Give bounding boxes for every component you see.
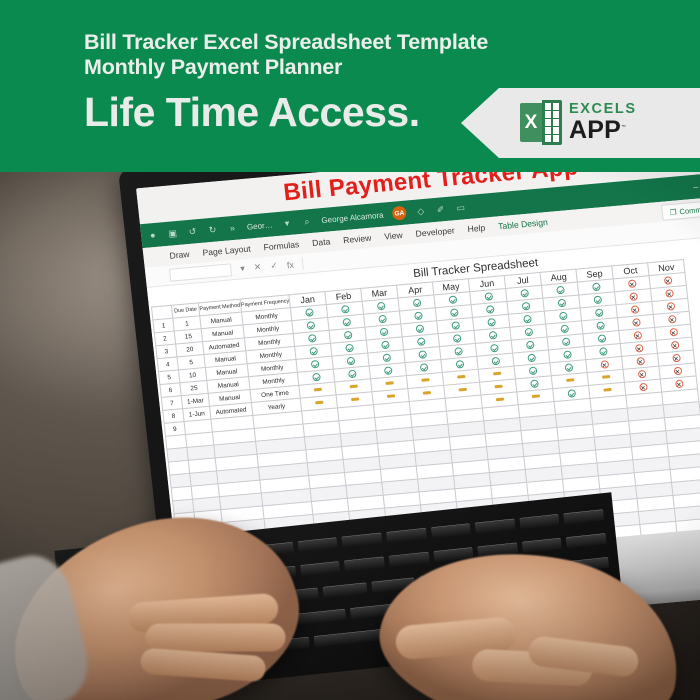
status-paid-icon	[487, 318, 496, 327]
status-paid-icon	[309, 347, 318, 356]
status-paid-icon	[488, 331, 497, 340]
hero-headline: Life Time Access.	[84, 89, 604, 135]
more-commands-icon[interactable]: »	[226, 222, 238, 234]
status-unpaid-icon: ✕	[665, 289, 674, 298]
status-paid-icon	[561, 338, 570, 347]
tab-formulas[interactable]: Formulas	[263, 239, 300, 252]
diamond-icon[interactable]: ◇	[415, 205, 427, 217]
status-paid-icon	[346, 357, 355, 366]
status-unpaid-icon: ✕	[627, 279, 636, 288]
status-paid-icon	[523, 315, 532, 324]
status-pending-icon	[602, 375, 610, 379]
status-pending-icon	[531, 395, 539, 399]
status-pending-icon	[385, 382, 393, 386]
status-paid-icon	[525, 341, 534, 350]
status-paid-icon	[530, 379, 539, 388]
status-paid-icon	[452, 334, 461, 343]
status-paid-icon	[347, 370, 356, 379]
status-paid-icon	[454, 347, 463, 356]
status-pending-icon	[494, 385, 502, 389]
status-paid-icon	[592, 283, 601, 292]
status-paid-icon	[521, 302, 530, 311]
tab-page-layout[interactable]: Page Layout	[202, 244, 251, 258]
hero-subtitle-line1: Bill Tracker Excel Spreadsheet Template	[84, 30, 604, 55]
status-paid-icon	[343, 331, 352, 340]
status-paid-icon	[307, 334, 316, 343]
status-unpaid-icon: ✕	[636, 357, 645, 366]
status-paid-icon	[528, 367, 537, 376]
status-paid-icon	[596, 321, 605, 330]
logo-trademark: ™	[621, 124, 626, 130]
tab-data[interactable]: Data	[312, 236, 331, 248]
status-unpaid-icon: ✕	[669, 328, 678, 337]
status-unpaid-icon: ✕	[632, 318, 641, 327]
status-paid-icon	[412, 299, 421, 308]
status-paid-icon	[524, 328, 533, 337]
chevron-down-icon[interactable]: ▾	[240, 263, 246, 274]
avatar[interactable]: GA	[392, 206, 407, 221]
status-paid-icon	[342, 318, 351, 327]
status-unpaid-icon: ✕	[630, 305, 639, 314]
status-pending-icon	[566, 379, 574, 383]
laptop-photo: Bill Payment Tracker App ● ▣ ↺ ↻ » Geor……	[0, 172, 700, 700]
status-pending-icon	[351, 398, 359, 402]
tab-review[interactable]: Review	[343, 233, 372, 245]
status-paid-icon	[340, 305, 349, 314]
status-unpaid-icon: ✕	[634, 344, 643, 353]
status-unpaid-icon: ✕	[667, 315, 676, 324]
status-pending-icon	[422, 391, 430, 395]
hero-subtitle-line2: Monthly Payment Planner	[84, 55, 604, 80]
search-icon[interactable]: ⌕	[301, 215, 313, 227]
status-paid-icon	[379, 328, 388, 337]
status-paid-icon	[485, 305, 494, 314]
status-unpaid-icon: ✕	[600, 360, 609, 369]
status-paid-icon	[416, 337, 425, 346]
account-name-label[interactable]: George Alcamora	[321, 210, 384, 224]
hero-text-block: Bill Tracker Excel Spreadsheet Template …	[84, 30, 604, 135]
file-name-label[interactable]: Geor…	[246, 220, 273, 231]
status-paid-icon	[520, 289, 529, 298]
comments-label: Comments	[679, 204, 700, 216]
status-paid-icon	[381, 341, 390, 350]
status-paid-icon	[455, 360, 464, 369]
status-paid-icon	[448, 295, 457, 304]
status-paid-icon	[451, 321, 460, 330]
status-paid-icon	[490, 344, 499, 353]
status-paid-icon	[449, 308, 458, 317]
status-unpaid-icon: ✕	[639, 383, 648, 392]
cancel-icon[interactable]: ✕	[253, 262, 262, 274]
status-pending-icon	[495, 398, 503, 402]
status-unpaid-icon: ✕	[637, 370, 646, 379]
status-pending-icon	[349, 385, 357, 389]
status-paid-icon	[557, 299, 566, 308]
status-unpaid-icon: ✕	[666, 302, 675, 311]
redo-icon[interactable]: ↻	[206, 224, 218, 236]
status-paid-icon	[345, 344, 354, 353]
status-unpaid-icon: ✕	[663, 276, 672, 285]
confirm-icon[interactable]: ✓	[270, 260, 279, 272]
status-paid-icon	[306, 321, 315, 330]
status-pending-icon	[603, 388, 611, 392]
status-paid-icon	[378, 315, 387, 324]
tab-view[interactable]: View	[384, 230, 403, 242]
status-paid-icon	[560, 325, 569, 334]
status-paid-icon	[597, 334, 606, 343]
undo-icon[interactable]: ↺	[187, 226, 199, 238]
status-paid-icon	[310, 360, 319, 369]
insert-function-icon[interactable]: fx	[286, 259, 294, 270]
status-paid-icon	[414, 312, 423, 321]
status-paid-icon	[491, 357, 500, 366]
hands-on-keyboard	[0, 515, 700, 700]
status-paid-icon	[419, 363, 428, 372]
status-paid-icon	[563, 350, 572, 359]
chevron-down-icon[interactable]: ▾	[281, 217, 293, 229]
tab-table-design[interactable]: Table Design	[498, 217, 549, 231]
status-paid-icon	[564, 363, 573, 372]
status-unpaid-icon: ✕	[672, 354, 681, 363]
status-paid-icon	[556, 286, 565, 295]
status-pending-icon	[493, 372, 501, 376]
save-icon[interactable]: ▣	[167, 227, 179, 239]
status-paid-icon	[593, 296, 602, 305]
name-box[interactable]	[169, 263, 232, 281]
status-paid-icon	[305, 308, 314, 317]
window-icon[interactable]: ▭	[455, 202, 467, 214]
status-paid-icon	[594, 308, 603, 317]
status-paid-icon	[382, 354, 391, 363]
tab-draw[interactable]: Draw	[169, 249, 190, 261]
status-paid-icon	[567, 389, 576, 398]
status-paid-icon	[312, 373, 321, 382]
status-pending-icon	[421, 378, 429, 382]
status-paid-icon	[376, 302, 385, 311]
status-unpaid-icon: ✕	[670, 341, 679, 350]
status-unpaid-icon: ✕	[633, 331, 642, 340]
status-paid-icon	[527, 354, 536, 363]
comments-icon: ❐	[669, 207, 677, 217]
status-paid-icon	[599, 347, 608, 356]
status-pending-icon	[458, 388, 466, 392]
hero-banner: X EXCELS APP™	[0, 0, 700, 172]
comments-button[interactable]: ❐ Comments	[661, 199, 700, 220]
status-pending-icon	[457, 375, 465, 379]
status-paid-icon	[418, 350, 427, 359]
status-paid-icon	[415, 324, 424, 333]
status-paid-icon	[484, 292, 493, 301]
status-unpaid-icon: ✕	[629, 292, 638, 301]
pen-icon[interactable]: ✐	[435, 203, 447, 215]
status-pending-icon	[315, 401, 323, 405]
status-unpaid-icon: ✕	[673, 367, 682, 376]
tab-help[interactable]: Help	[467, 223, 486, 235]
minimize-icon[interactable]: –	[690, 181, 700, 193]
status-paid-icon	[383, 366, 392, 375]
tab-developer[interactable]: Developer	[415, 225, 455, 238]
promo-image: X EXCELS APP™	[0, 0, 700, 700]
status-paid-icon	[558, 312, 567, 321]
autosave-icon[interactable]: ●	[147, 229, 159, 241]
status-pending-icon	[386, 395, 394, 399]
status-pending-icon	[313, 388, 321, 392]
status-unpaid-icon: ✕	[674, 380, 683, 389]
